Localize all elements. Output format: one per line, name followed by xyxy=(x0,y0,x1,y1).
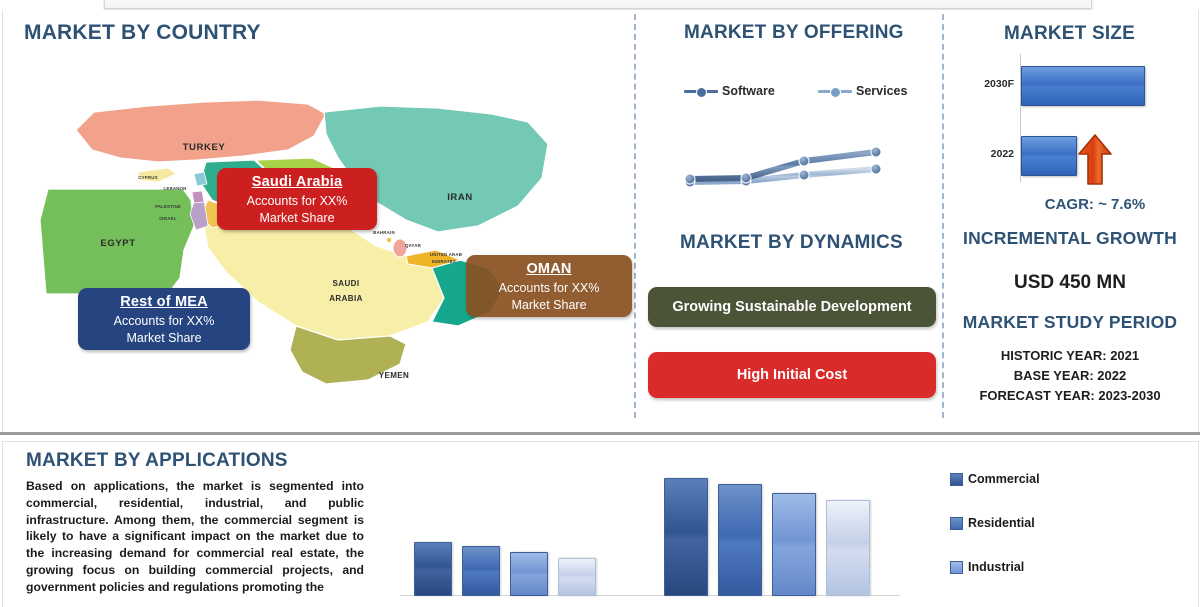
map-label-bahrain: BAHRAIN xyxy=(373,230,395,235)
applications-bar-g2-public xyxy=(826,500,870,596)
map-label-uae-2: EMIRATES xyxy=(432,259,456,264)
map-label-iran: IRAN xyxy=(447,192,473,203)
callout-rest-of-mea[interactable]: Rest of MEA Accounts for XX% Market Shar… xyxy=(78,288,250,350)
market-study-period-title: MARKET STUDY PERIOD xyxy=(944,312,1196,333)
map-label-qatar: QATAR xyxy=(405,243,422,248)
market-size-bar-2022 xyxy=(1021,136,1077,176)
page-title-market-size: MARKET SIZE xyxy=(1004,23,1135,45)
market-size-label-2030: 2030F xyxy=(952,78,1014,90)
growth-arrow-icon xyxy=(1078,134,1112,186)
callout-saudi-arabia[interactable]: Saudi Arabia Accounts for XX% Market Sha… xyxy=(217,168,377,230)
legend-marker-software-icon xyxy=(684,87,718,95)
historic-year: HISTORIC YEAR: 2021 xyxy=(944,346,1196,366)
legend-label-commercial: Commercial xyxy=(968,472,1040,486)
legend-label-services: Services xyxy=(856,84,907,98)
applications-paragraph: Based on applications, the market is seg… xyxy=(26,478,364,596)
page-title-market-by-dynamics: MARKET BY DYNAMICS xyxy=(680,232,903,254)
legend-item-industrial[interactable]: Industrial xyxy=(950,560,1024,574)
page-title-market-by-country: MARKET BY COUNTRY xyxy=(24,21,261,45)
map-country-qatar xyxy=(393,239,407,257)
market-size-bar-chart: 2030F 2022 xyxy=(952,52,1192,187)
map-svg: TURKEY SYRIA IRAQ IRAN EGYPT SAUDI ARABI… xyxy=(8,50,628,415)
callout-saudi-line1: Accounts for XX% xyxy=(217,193,377,210)
middle-east-map: TURKEY SYRIA IRAQ IRAN EGYPT SAUDI ARABI… xyxy=(8,50,628,415)
callout-oman-title: OMAN xyxy=(466,261,632,277)
legend-item-software[interactable]: Software xyxy=(684,84,775,98)
callout-oman-line2: Market Share xyxy=(466,297,632,314)
map-label-saudi-arabia-1: SAUDI xyxy=(333,279,360,288)
applications-bar-chart xyxy=(400,468,940,600)
market-size-label-2022: 2022 xyxy=(952,148,1014,160)
dynamics-restraint-pill[interactable]: High Initial Cost xyxy=(648,352,936,398)
dynamics-driver-pill[interactable]: Growing Sustainable Development xyxy=(648,287,936,327)
map-label-cyprus: CYPRUS xyxy=(138,175,158,180)
applications-bar-g1-commercial xyxy=(414,542,452,596)
legend-marker-services-icon xyxy=(818,87,852,95)
market-study-period-details: HISTORIC YEAR: 2021 BASE YEAR: 2022 FORE… xyxy=(944,346,1196,406)
map-label-palestine: PALESTINE xyxy=(155,204,181,209)
map-label-yemen: YEMEN xyxy=(379,371,409,380)
map-label-turkey: TURKEY xyxy=(183,142,226,153)
applications-bar-g2-industrial xyxy=(772,493,816,596)
offering-line-chart xyxy=(668,128,918,198)
callout-mea-title: Rest of MEA xyxy=(78,294,250,310)
map-country-bahrain xyxy=(386,237,391,242)
callout-saudi-line2: Market Share xyxy=(217,210,377,227)
applications-bar-g2-commercial xyxy=(664,478,708,596)
cagr-value: CAGR: ~ 7.6% xyxy=(1000,196,1190,213)
page-title-market-by-applications: MARKET BY APPLICATIONS xyxy=(26,450,288,472)
map-label-egypt: EGYPT xyxy=(100,238,135,249)
map-country-palestine xyxy=(192,191,204,203)
legend-swatch-commercial-icon xyxy=(950,473,963,486)
legend-swatch-industrial-icon xyxy=(950,561,963,574)
legend-item-commercial[interactable]: Commercial xyxy=(950,472,1040,486)
callout-mea-line1: Accounts for XX% xyxy=(78,313,250,330)
callout-oman[interactable]: OMAN Accounts for XX% Market Share xyxy=(466,255,632,317)
market-size-bar-2030 xyxy=(1021,66,1145,106)
callout-mea-line2: Market Share xyxy=(78,330,250,347)
legend-item-services[interactable]: Services xyxy=(818,84,907,98)
map-label-israel: ISRAEL xyxy=(159,216,176,221)
legend-label-software: Software xyxy=(722,84,775,98)
map-label-saudi-arabia-2: ARABIA xyxy=(329,294,363,303)
map-label-uae-1: UNITED ARAB xyxy=(430,252,462,257)
page-title-market-by-offering: MARKET BY OFFERING xyxy=(684,22,904,44)
legend-swatch-residential-icon xyxy=(950,517,963,530)
applications-bar-g1-residential xyxy=(462,546,500,596)
map-label-lebanon: LEBANON xyxy=(163,186,186,191)
applications-bar-g1-public xyxy=(558,558,596,596)
incremental-growth-title: INCREMENTAL GROWTH xyxy=(944,228,1196,249)
legend-label-residential: Residential xyxy=(968,516,1035,530)
offering-line-chart-svg xyxy=(668,128,918,198)
applications-bar-g2-residential xyxy=(718,484,762,596)
applications-bar-g1-industrial xyxy=(510,552,548,596)
incremental-growth-value: USD 450 MN xyxy=(944,272,1196,294)
legend-item-residential[interactable]: Residential xyxy=(950,516,1035,530)
offering-chart-legend: Software Services xyxy=(684,84,914,100)
top-banner xyxy=(104,0,1092,9)
horizontal-separator xyxy=(0,432,1200,435)
vertical-divider-left xyxy=(634,14,636,418)
base-year: BASE YEAR: 2022 xyxy=(944,366,1196,386)
callout-saudi-title: Saudi Arabia xyxy=(217,174,377,190)
forecast-year: FORECAST YEAR: 2023-2030 xyxy=(944,386,1196,406)
legend-label-industrial: Industrial xyxy=(968,560,1024,574)
callout-oman-line1: Accounts for XX% xyxy=(466,280,632,297)
infographic-page: MARKET BY COUNTRY xyxy=(0,0,1200,600)
